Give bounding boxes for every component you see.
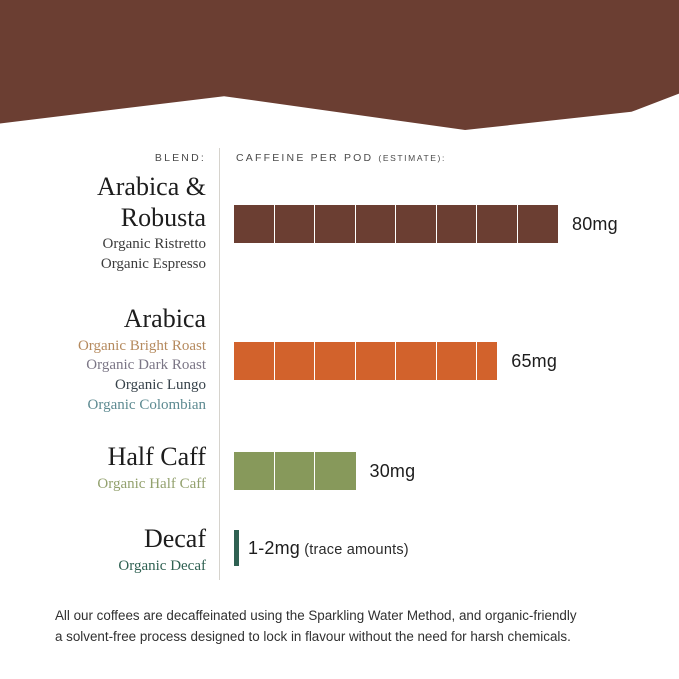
- blend-label-group: DecafOrganic Decaf: [0, 524, 206, 576]
- caffeine-bar: [234, 530, 239, 566]
- product-item[interactable]: Organic Lungo: [0, 376, 206, 396]
- caffeine-bar-group: 30mg: [234, 452, 415, 490]
- bar-segment: [396, 342, 437, 380]
- caffeine-value-suffix: (trace amounts): [300, 542, 409, 558]
- blend-label-group: Arabica &RobustaOrganic RistrettoOrganic…: [0, 172, 206, 275]
- caffeine-value-label: 65mg: [511, 351, 557, 372]
- caffeine-value-amount: 30mg: [370, 461, 416, 481]
- bar-segment: [437, 342, 478, 380]
- product-item[interactable]: Organic Espresso: [0, 255, 206, 275]
- product-item[interactable]: Organic Decaf: [0, 557, 206, 577]
- caffeine-bar-group: 65mg: [234, 342, 557, 380]
- caffeine-value-label: 80mg: [572, 214, 618, 235]
- blend-name: Arabica: [0, 304, 206, 335]
- header-banner: [0, 0, 679, 130]
- blend-name: Half Caff: [0, 442, 206, 473]
- caffeine-bar: [234, 342, 497, 380]
- bar-segment: [315, 452, 356, 490]
- caffeine-value-label: 30mg: [370, 461, 416, 482]
- bar-segment: [315, 342, 356, 380]
- caffeine-value-amount: 65mg: [511, 351, 557, 371]
- caffeine-value-amount: 1-2mg: [248, 538, 300, 558]
- product-list: Organic RistrettoOrganic Espresso: [0, 235, 206, 275]
- caffeine-bar: [234, 452, 356, 490]
- bar-segment: [518, 205, 559, 243]
- bar-segment: [356, 205, 397, 243]
- product-item[interactable]: Organic Half Caff: [0, 475, 206, 495]
- caffeine-bar-group: 1-2mg (trace amounts): [234, 530, 409, 566]
- bar-segment: [234, 205, 275, 243]
- product-item[interactable]: Organic Colombian: [0, 396, 206, 416]
- caffeine-column-heading: CAFFEINE PER POD (ESTIMATE):: [236, 152, 446, 164]
- column-headings: BLEND: CAFFEINE PER POD (ESTIMATE):: [0, 152, 679, 174]
- footer-note-line-2: a solvent-free process designed to lock …: [55, 626, 635, 647]
- blend-column-heading: BLEND:: [0, 152, 206, 164]
- product-list: Organic Half Caff: [0, 475, 206, 495]
- footer-note-line-1: All our coffees are decaffeinated using …: [55, 605, 635, 626]
- bar-segment: [234, 342, 275, 380]
- bar-segment: [396, 205, 437, 243]
- column-divider: [219, 148, 220, 580]
- bar-segment: [275, 342, 316, 380]
- bar-segment: [275, 452, 316, 490]
- caffeine-column-heading-estimate: (ESTIMATE):: [378, 153, 446, 163]
- caffeine-bar-group: 80mg: [234, 205, 618, 243]
- caffeine-value-label: 1-2mg (trace amounts): [248, 538, 409, 559]
- bar-segment: [477, 205, 518, 243]
- footer-note: All our coffees are decaffeinated using …: [55, 605, 635, 647]
- caffeine-column-heading-main: CAFFEINE PER POD: [236, 152, 378, 164]
- product-item[interactable]: Organic Bright Roast: [0, 337, 206, 357]
- blend-label-group: Half CaffOrganic Half Caff: [0, 442, 206, 494]
- bar-segment: [275, 205, 316, 243]
- caffeine-value-amount: 80mg: [572, 214, 618, 234]
- bar-segment-partial: [477, 342, 497, 380]
- blend-label-group: ArabicaOrganic Bright RoastOrganic Dark …: [0, 304, 206, 416]
- product-list: Organic Bright RoastOrganic Dark RoastOr…: [0, 337, 206, 416]
- bar-segment: [234, 452, 275, 490]
- blend-name: Arabica &: [0, 172, 206, 203]
- product-list: Organic Decaf: [0, 557, 206, 577]
- bar-segment: [315, 205, 356, 243]
- blend-name: Decaf: [0, 524, 206, 555]
- product-item[interactable]: Organic Ristretto: [0, 235, 206, 255]
- blend-name-line-2: Robusta: [0, 203, 206, 234]
- bar-segment: [356, 342, 397, 380]
- product-item[interactable]: Organic Dark Roast: [0, 356, 206, 376]
- caffeine-bar: [234, 205, 558, 243]
- bar-segment: [437, 205, 478, 243]
